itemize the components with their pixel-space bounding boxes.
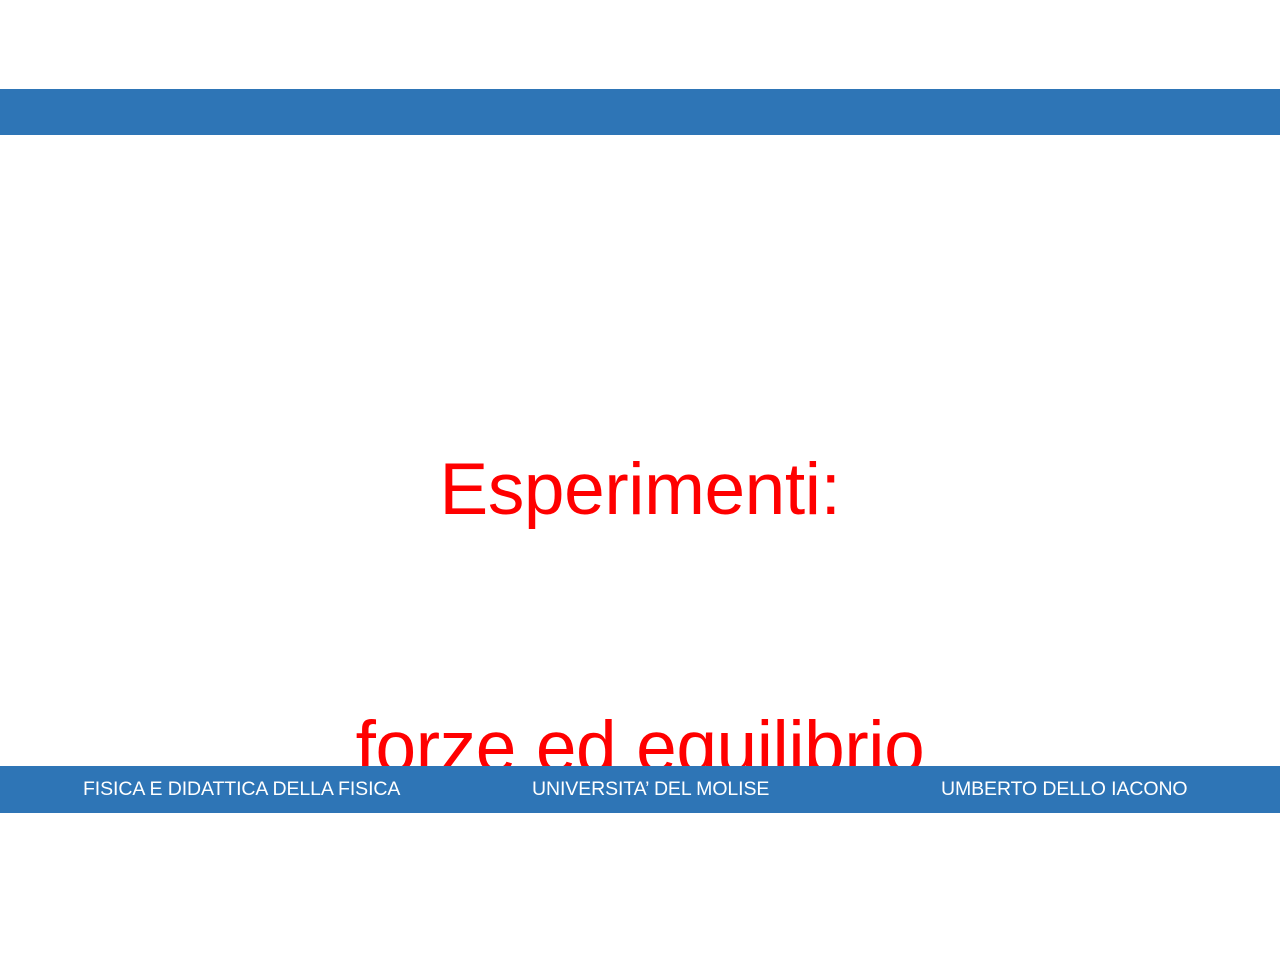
page-title-line-1: Esperimenti: bbox=[0, 447, 1280, 533]
footer-organization-name: UNIVERSITA’ DEL MOLISE bbox=[532, 766, 769, 813]
slide-title-placeholder-bar[interactable] bbox=[0, 89, 1280, 135]
slide-footer-bar: FISICA E DIDATTICA DELLA FISICA UNIVERSI… bbox=[0, 766, 1280, 813]
slide-content-area: Esperimenti: forze ed equilibrio bbox=[0, 135, 1280, 766]
page-title: Esperimenti: forze ed equilibrio bbox=[0, 275, 1280, 963]
slide-canvas: Esperimenti: forze ed equilibrio FISICA … bbox=[0, 0, 1280, 905]
footer-course-name: FISICA E DIDATTICA DELLA FISICA bbox=[83, 766, 400, 813]
footer-author-name: UMBERTO DELLO IACONO bbox=[941, 766, 1188, 813]
